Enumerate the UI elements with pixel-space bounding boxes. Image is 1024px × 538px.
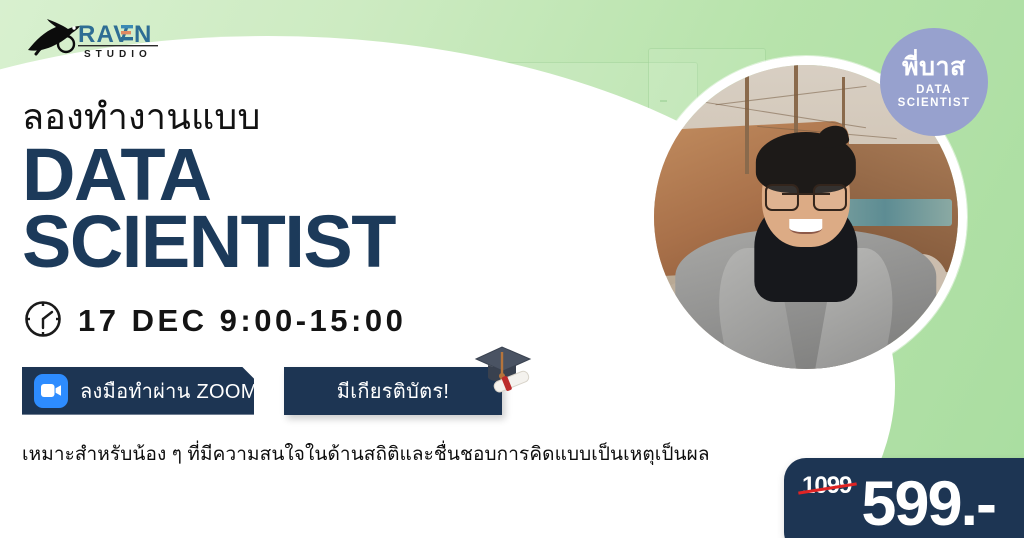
graduation-cap-icon xyxy=(472,343,534,402)
instructor-badge-role1: DATA xyxy=(916,85,952,97)
original-price: 1099 xyxy=(802,472,851,500)
kicker-text: ลองทำงานแบบ xyxy=(22,96,662,138)
certificate-label: มีเกียรติบัตร! xyxy=(337,375,450,407)
zoom-session-label: ลงมือทำผ่าน ZOOM xyxy=(80,375,258,407)
photo-mast xyxy=(745,71,749,174)
photo-glasses-bridge xyxy=(782,193,831,195)
instructor-badge: พี่บาส DATA SCIENTIST xyxy=(880,28,988,136)
instructor-badge-name: พี่บาส xyxy=(902,55,966,80)
zoom-session-button[interactable]: ลงมือทำผ่าน ZOOM xyxy=(22,367,254,415)
tagline-text: เหมาะสำหรับน้อง ๆ ที่มีความสนใจในด้านสถิ… xyxy=(22,439,662,469)
raven-bird-icon xyxy=(28,19,80,54)
discounted-price: 599.- xyxy=(861,468,995,538)
svg-text:STUDIO: STUDIO xyxy=(84,49,152,60)
instructor-badge-role2: SCIENTIST xyxy=(898,98,971,110)
certificate-button-wrapper: มีเกียรติบัตร! xyxy=(284,367,502,415)
promo-banner: RAV N STUDIO ลองทำงานแบบ DATA SCIENTIST xyxy=(0,0,1024,538)
raven-studio-logo[interactable]: RAV N STUDIO xyxy=(22,17,172,59)
photo-glasses-icon xyxy=(765,184,847,211)
certificate-button[interactable]: มีเกียรติบัตร! xyxy=(284,367,502,415)
title-line-1: DATA xyxy=(22,142,662,209)
title-line-2: SCIENTIST xyxy=(22,209,662,276)
schedule-text: 17 DEC 9:00-15:00 xyxy=(78,303,406,339)
page-title: DATA SCIENTIST xyxy=(22,142,662,275)
raven-wordmark: RAV N STUDIO xyxy=(78,21,158,60)
cta-button-row: ลงมือทำผ่าน ZOOM มีเกียรติบัตร! xyxy=(22,367,662,415)
clock-icon xyxy=(22,298,64,345)
headline-content: ลองทำงานแบบ DATA SCIENTIST 17 DEC 9:00-1… xyxy=(22,96,662,469)
photo-smile xyxy=(789,219,822,234)
zoom-video-icon xyxy=(34,374,68,408)
price-badge: 1099 599.- xyxy=(784,458,1024,538)
schedule-row: 17 DEC 9:00-15:00 xyxy=(22,298,662,345)
svg-text:N: N xyxy=(134,21,153,48)
